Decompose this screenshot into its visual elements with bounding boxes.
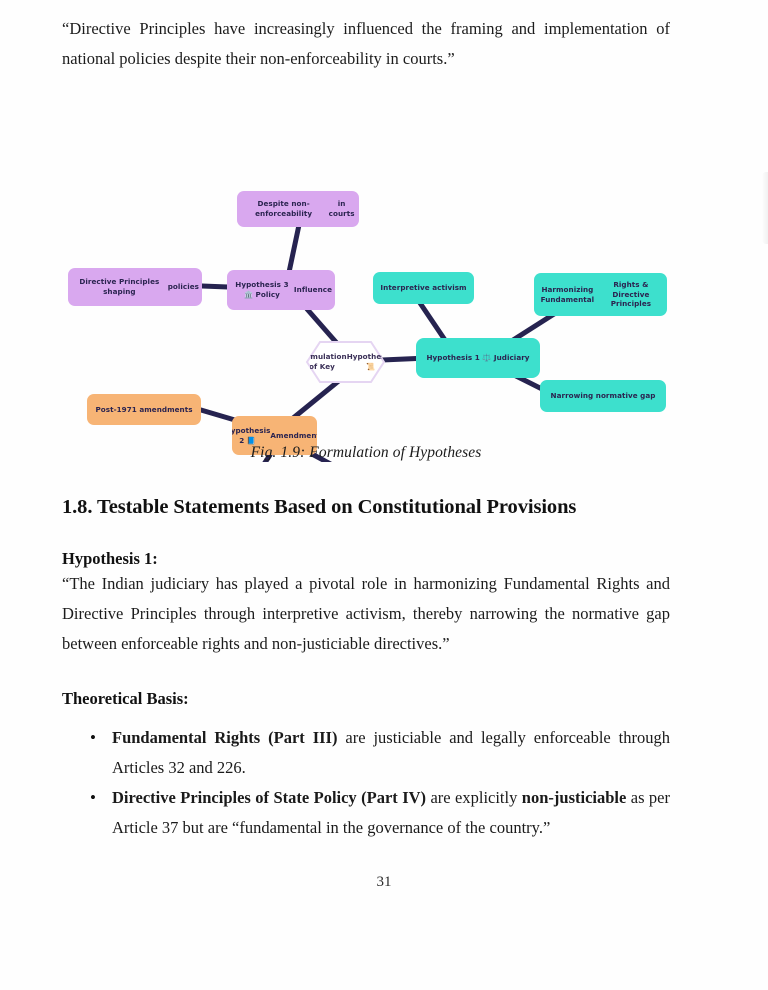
node-interpretive-activism[interactable]: Interpretive activism	[373, 272, 474, 304]
bullet-2-bold-mid: non-justiciable	[522, 788, 627, 807]
list-item: Fundamental Rights (Part III) are justic…	[98, 723, 670, 783]
node-label: Narrowing normative gap	[540, 380, 666, 412]
page-number: 31	[0, 874, 768, 891]
connector-interpretive-to-hyp1	[418, 300, 447, 343]
node-label: Interpretive activism	[373, 272, 474, 304]
node-post-1971-amendments[interactable]: Post-1971 amendments	[87, 394, 201, 425]
node-directive-principles-shaping-policies[interactable]: Directive Principles shaping policies	[68, 268, 202, 306]
node-label: Despite non-enforceability in courts	[237, 191, 359, 227]
theoretical-basis-list: Fundamental Rights (Part III) are justic…	[62, 723, 670, 843]
mindmap-diagram: Despite non-enforceability in courts Dir…	[62, 92, 670, 462]
figure-caption: Fig. 1.9: Formulation of Hypotheses	[62, 444, 670, 462]
intro-quote-block: “Directive Principles have increasingly …	[62, 14, 670, 74]
node-label: Formulation of Key Hypotheses 📜	[310, 344, 382, 380]
node-harmonizing-fundamental-rights[interactable]: Harmonizing Fundamental Rights & Directi…	[534, 273, 667, 316]
document-page: “Directive Principles have increasingly …	[0, 0, 768, 990]
node-label: Harmonizing Fundamental Rights & Directi…	[534, 273, 667, 316]
figure-1-9: Despite non-enforceability in courts Dir…	[62, 92, 670, 462]
node-formulation-of-key-hypotheses[interactable]: Formulation of Key Hypotheses 📜	[307, 342, 384, 382]
scroll-indicator-artifact	[762, 172, 768, 244]
node-label: Hypothesis 3 🏛️ Policy Influence	[227, 270, 335, 310]
node-narrowing-normative-gap[interactable]: Narrowing normative gap	[540, 380, 666, 412]
intro-quote: “Directive Principles have increasingly …	[62, 14, 670, 74]
theoretical-basis-label: Theoretical Basis:	[62, 689, 670, 709]
hypothesis-1-statement: “The Indian judiciary has played a pivot…	[62, 569, 670, 659]
node-hypothesis-3-policy-influence[interactable]: Hypothesis 3 🏛️ Policy Influence	[227, 270, 335, 310]
bullet-1-bold-lead: Fundamental Rights (Part III)	[112, 728, 337, 747]
hypothesis-1-label: Hypothesis 1:	[62, 549, 670, 569]
page-content: “Directive Principles have increasingly …	[62, 14, 670, 843]
node-label: Directive Principles shaping policies	[68, 268, 202, 306]
section-heading: 1.8. Testable Statements Based on Consti…	[62, 496, 670, 519]
node-hypothesis-1-judiciary[interactable]: Hypothesis 1 ⚖️ Judiciary	[416, 338, 540, 378]
node-label: Hypothesis 1 ⚖️ Judiciary	[416, 338, 540, 378]
bullet-2-mid: are explicitly	[426, 788, 522, 807]
node-despite-non-enforceability[interactable]: Despite non-enforceability in courts	[237, 191, 359, 227]
list-item: Directive Principles of State Policy (Pa…	[98, 783, 670, 843]
bullet-2-bold-lead: Directive Principles of State Policy (Pa…	[112, 788, 426, 807]
node-label: Post-1971 amendments	[87, 394, 201, 425]
